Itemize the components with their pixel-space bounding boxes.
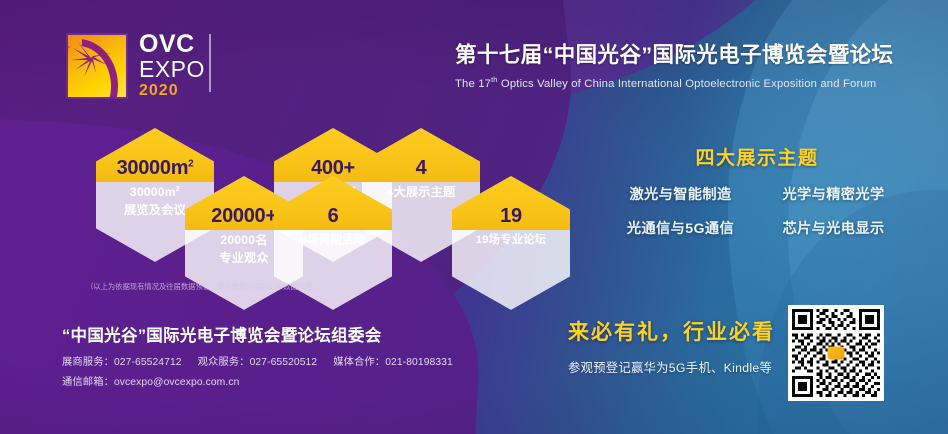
themes-grid: 激光与智能制造 光学与精密光学 光通信与5G通信 芯片与光电显示 bbox=[607, 184, 907, 238]
stat-hex-number: 400+ bbox=[311, 158, 355, 178]
themes-block: 四大展示主题 激光与智能制造 光学与精密光学 光通信与5G通信 芯片与光电显示 bbox=[607, 143, 907, 238]
stat-caption-1: 19场专业论坛 bbox=[452, 232, 570, 248]
stat-hex-number: 4 bbox=[416, 158, 427, 178]
promo-subline: 参观预登记赢华为5G手机、Kindle等 bbox=[568, 358, 808, 376]
theme-item-laser: 激光与智能制造 bbox=[607, 184, 754, 204]
logo-text-ovc: OVC bbox=[139, 32, 205, 57]
qr-code-icon[interactable] bbox=[788, 305, 884, 401]
stat-hex-band: 4 bbox=[362, 128, 480, 182]
theme-item-chips: 芯片与光电显示 bbox=[760, 218, 907, 238]
title-en-post: Optics Valley of China International Opt… bbox=[498, 78, 877, 90]
starburst-sun-icon bbox=[66, 33, 128, 99]
stat-hex-caption: 19场专业论坛 bbox=[452, 232, 570, 248]
stat-hex-number: 19 bbox=[500, 206, 522, 226]
contact-media: 媒体合作：021-80198331 bbox=[333, 357, 453, 368]
stat-hex-caption: 6场同期活动 bbox=[274, 232, 392, 248]
stat-unit: m bbox=[171, 157, 188, 179]
stat-caption-sup: 2 bbox=[176, 184, 180, 193]
theme-item-comms: 光通信与5G通信 bbox=[607, 218, 754, 238]
footer-contact-block: “中国光谷”国际光电子博览会暨论坛组委会 展商服务：027-65524712观众… bbox=[62, 322, 482, 388]
header-title-block: 第十七届“中国光谷”国际光电子博览会暨论坛 The 17th Optics Va… bbox=[455, 38, 925, 90]
logo-text-year: 2020 bbox=[139, 83, 205, 99]
logo-text-expo: EXPO bbox=[139, 58, 205, 81]
organizer-title: “中国光谷”国际光电子博览会暨论坛组委会 bbox=[62, 322, 482, 346]
stat-hex-number: 6 bbox=[328, 206, 339, 226]
stat-hex-band: 30000m2 bbox=[96, 128, 214, 182]
stat-number-value: 30000 bbox=[117, 157, 171, 179]
themes-title: 四大展示主题 bbox=[607, 143, 907, 170]
stat-hex-caption: 4大展示主题 bbox=[362, 184, 480, 202]
contact-visitor: 观众服务：027-65520512 bbox=[198, 357, 318, 368]
stats-hexagon-cluster: 30000m2 30000m2 展览及会议 400+ 400余家 参展企业 4 bbox=[96, 128, 566, 273]
promo-block: 来必有礼，行业必看 参观预登记赢华为5G手机、Kindle等 bbox=[568, 316, 808, 376]
contact-phones-row: 展商服务：027-65524712观众服务：027-65520512媒体合作：0… bbox=[62, 353, 482, 368]
contact-exhibitor: 展商服务：027-65524712 bbox=[62, 357, 182, 368]
starburst-glyph bbox=[71, 39, 113, 79]
theme-item-optics: 光学与精密光学 bbox=[760, 184, 907, 204]
page-title-en: The 17th Optics Valley of China Internat… bbox=[455, 75, 925, 90]
qr-center-logo-icon bbox=[828, 347, 845, 360]
brand-logo: OVC EXPO 2020 bbox=[66, 32, 205, 99]
contact-email: 通信邮箱：ovcexpo@ovcexpo.com.cn bbox=[62, 373, 482, 388]
page-title-cn: 第十七届“中国光谷”国际光电子博览会暨论坛 bbox=[455, 38, 925, 69]
promo-headline: 来必有礼，行业必看 bbox=[568, 316, 808, 346]
stat-caption-1: 4大展示主题 bbox=[362, 184, 480, 202]
poster-canvas: OVC EXPO 2020 第十七届“中国光谷”国际光电子博览会暨论坛 The … bbox=[0, 0, 948, 434]
title-en-pre: The 17 bbox=[455, 78, 491, 90]
stats-disclaimer: （以上为依据现有情况及往届数据预估，最终数据以展后公布数据为准。） bbox=[86, 282, 386, 292]
stat-hex-number: 30000m2 bbox=[117, 158, 194, 178]
stat-caption-1: 30000m bbox=[130, 185, 176, 199]
stat-hex-number: 20000+ bbox=[211, 206, 277, 226]
stat-caption-1: 6场同期活动 bbox=[274, 232, 392, 248]
logo-divider bbox=[209, 34, 211, 92]
stat-unit-sup: 2 bbox=[188, 158, 193, 169]
